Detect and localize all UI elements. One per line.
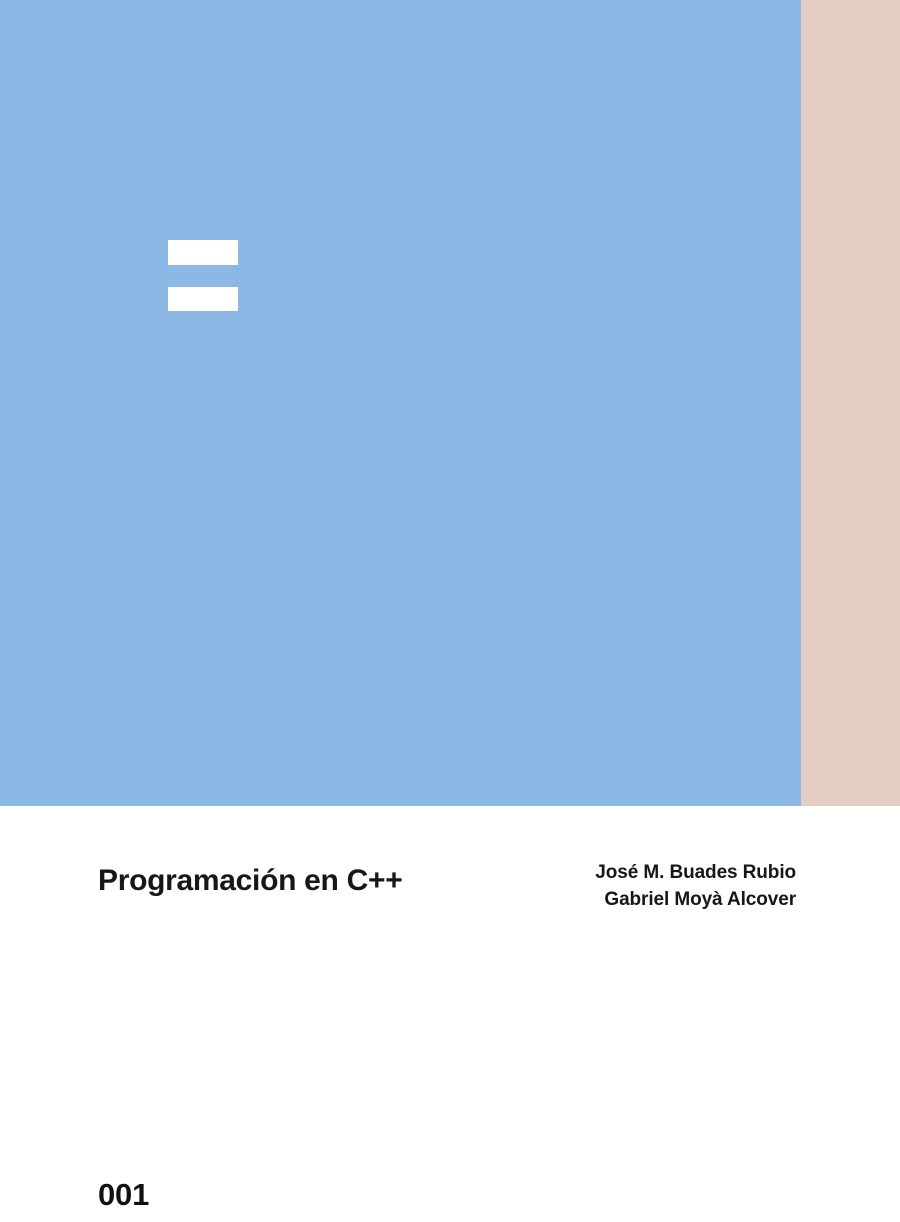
equals-mark-top-bar: [168, 240, 238, 265]
author-name: José M. Buades Rubio: [595, 860, 796, 887]
authors-block: José M. Buades Rubio Gabriel Moyà Alcove…: [595, 860, 796, 914]
cover-color-band: [0, 0, 900, 806]
equals-mark-bottom-bar: [168, 287, 238, 311]
pink-side-panel: [801, 0, 900, 806]
equals-mark-icon: [168, 240, 238, 311]
page-title: Programación en C++: [98, 864, 402, 898]
book-cover: Programación en C++ José M. Buades Rubio…: [0, 0, 900, 1222]
cover-text-area: Programación en C++ José M. Buades Rubio…: [0, 806, 900, 1222]
page-number: 001: [98, 1179, 149, 1210]
title-block: Programación en C++: [98, 864, 402, 898]
blue-panel: [0, 0, 801, 806]
author-name: Gabriel Moyà Alcover: [595, 887, 796, 914]
